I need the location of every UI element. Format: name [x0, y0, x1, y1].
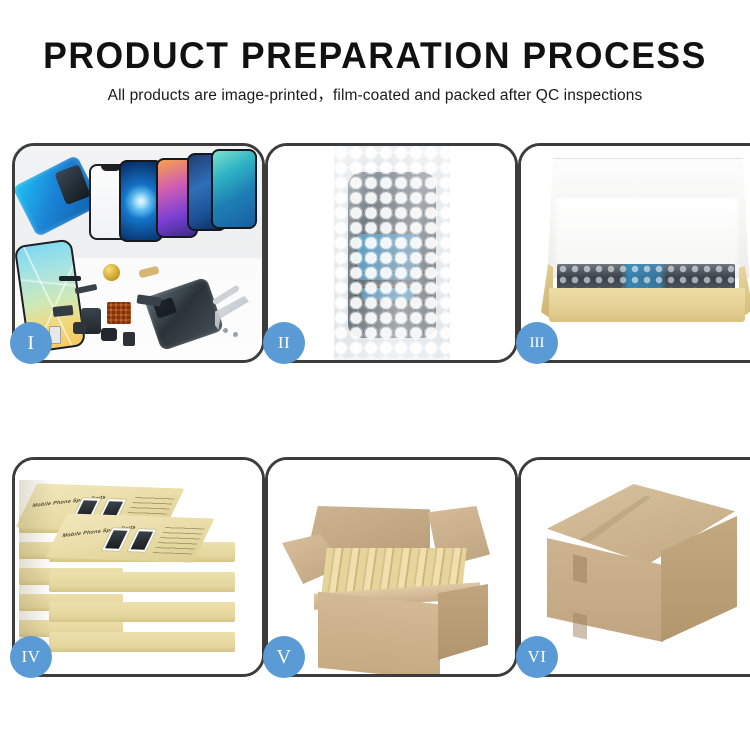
- copper-mesh-part-icon: [107, 302, 131, 324]
- step-badge-1: I: [10, 322, 52, 364]
- box-front-wall-icon: [549, 288, 745, 322]
- stacked-retail-boxes-photo: Mobile Phone Spare Parts Mobile Phone Sp…: [15, 460, 262, 674]
- carton-tape-lower-icon: [573, 612, 587, 639]
- open-shipping-carton-photo: [268, 460, 515, 674]
- sealed-shipping-carton-photo: [521, 460, 750, 674]
- step-badge-6: VI: [516, 636, 558, 678]
- plastic-sheen-icon: [334, 146, 450, 358]
- step-badge-3: III: [516, 322, 558, 364]
- header: PRODUCT PREPARATION PROCESS All products…: [0, 34, 750, 106]
- step-panel-5: V: [265, 457, 518, 677]
- open-mailer-box-photo: [521, 146, 750, 360]
- bubble-wrap-packaging-photo: [268, 146, 515, 360]
- steps-grid: I II III: [12, 143, 738, 714]
- phone-display-teal-icon: [211, 149, 257, 229]
- step-panel-2: II: [265, 143, 518, 363]
- step-badge-2: II: [263, 322, 305, 364]
- step-panel-6: VI: [518, 457, 750, 677]
- page-title: PRODUCT PREPARATION PROCESS: [15, 34, 735, 78]
- page-subtitle: All products are image-printed，film-coat…: [0, 86, 750, 106]
- spec-lines-icon: [153, 525, 206, 554]
- step-panel-1: I: [12, 143, 265, 363]
- step-badge-5: V: [263, 636, 305, 678]
- retail-box-lid-second: Mobile Phone Spare Parts: [46, 513, 215, 562]
- step-badge-4: IV: [10, 636, 52, 678]
- carton-front-panel-icon: [318, 592, 440, 674]
- step-panel-4: Mobile Phone Spare Parts Mobile Phone Sp…: [12, 457, 265, 677]
- step-panel-3: III: [518, 143, 750, 363]
- product-preparation-infographic: PRODUCT PREPARATION PROCESS All products…: [0, 0, 750, 750]
- carton-tape-upper-icon: [573, 554, 587, 583]
- phone-screens-and-parts-photo: [15, 146, 262, 360]
- speaker-module-icon: [103, 264, 120, 281]
